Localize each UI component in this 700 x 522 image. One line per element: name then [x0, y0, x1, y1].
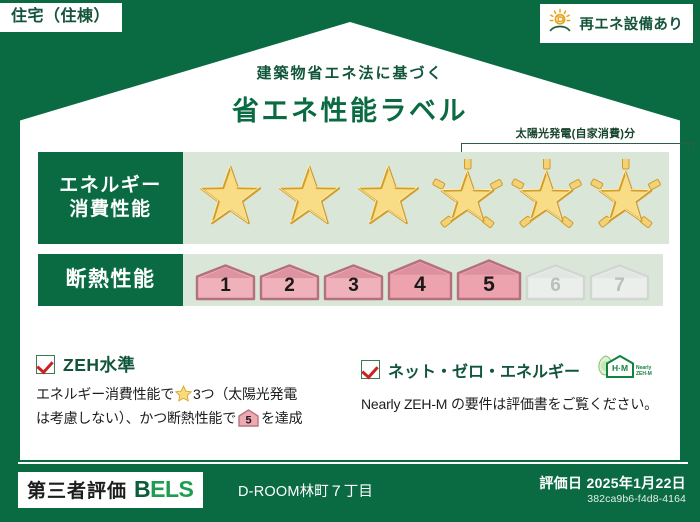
- evaluation-date-value: 2025年1月22日: [586, 475, 686, 491]
- insulation-label-text: 断熱性能: [66, 267, 156, 294]
- renewable-equipment-badge: 再エネ設備あり: [540, 4, 693, 43]
- insulation-level-track: 1234567: [183, 254, 663, 306]
- star-rating: [191, 159, 665, 237]
- zeh-body-part1: エネルギー消費性能で: [36, 386, 174, 402]
- zeh-body-part4: を達成: [261, 410, 302, 426]
- renewable-badge-label: 再エネ設備あり: [579, 13, 683, 34]
- insulation-level-2: 2: [259, 264, 320, 301]
- svg-text:ZEH-M: ZEH-M: [636, 371, 652, 377]
- energy-label-line2: 消費性能: [69, 198, 151, 222]
- insulation-level-number: 3: [323, 275, 384, 297]
- bels-logo-text: BELS: [134, 476, 193, 503]
- star-4: [428, 159, 507, 237]
- zeh-standard-header: ZEH水準: [36, 352, 341, 377]
- zeh-standard-title: ZEH水準: [63, 352, 136, 377]
- insulation-level-number: 4: [387, 273, 453, 297]
- building-type-tag: 住宅（住棟）: [0, 3, 122, 32]
- inline-star-icon: [175, 385, 192, 408]
- insulation-level-3: 3: [323, 264, 384, 301]
- insulation-level-number: 5: [456, 273, 522, 297]
- zeh-body-part3: は考慮しない）、かつ断熱性能で: [36, 410, 236, 426]
- star-2: [270, 159, 349, 237]
- insulation-level-list: 1234567: [195, 259, 650, 301]
- bels-logo-b: B: [134, 476, 150, 502]
- energy-star-track: [183, 152, 669, 244]
- footer-divider: [18, 462, 688, 464]
- evaluation-date-label: 評価日: [539, 475, 582, 491]
- performance-rows: エネルギー 消費性能 太陽光発電(自家消費)分 断熱性能 1234567: [38, 152, 663, 316]
- evaluation-date: 評価日 2025年1月22日: [539, 473, 686, 493]
- evaluation-id: 382ca9b6-f4d8-4164: [587, 493, 686, 505]
- insulation-performance-row: 断熱性能 1234567: [38, 254, 663, 306]
- title-subtitle: 建築物省エネ法に基づく: [0, 62, 700, 83]
- insulation-level-number: 7: [589, 275, 650, 297]
- bels-jp-label: 第三者評価: [27, 476, 127, 503]
- zeh-standard-checkbox-icon: [36, 355, 55, 374]
- nearly-zeh-m-logo-icon: H·M Nearly ZEH-M: [592, 352, 652, 387]
- insulation-level-1: 1: [195, 264, 256, 301]
- star-6: [586, 159, 665, 237]
- net-zero-header: ネット・ゼロ・エネルギー H·M Nearly ZEH-M: [361, 352, 666, 387]
- insulation-level-number: 6: [525, 275, 586, 297]
- label-footer: 第三者評価 BELS D-ROOM林町７丁目 評価日 2025年1月22日 38…: [0, 460, 700, 522]
- svg-text:5: 5: [246, 415, 252, 427]
- sun-renewable-icon: [547, 8, 573, 39]
- star-3: [349, 159, 428, 237]
- insulation-level-6: 6: [525, 264, 586, 301]
- bels-logo-els: ELS: [150, 476, 193, 502]
- net-zero-title: ネット・ゼロ・エネルギー: [388, 358, 580, 382]
- bels-certification-badge: 第三者評価 BELS: [18, 472, 203, 508]
- star-1: [191, 159, 270, 237]
- title-block: 建築物省エネ法に基づく 省エネ性能ラベル: [0, 62, 700, 128]
- insulation-level-number: 1: [195, 275, 256, 297]
- energy-performance-label: 住宅（住棟） 再エネ設備あり 建築物省エネ法に基づく: [0, 0, 700, 522]
- inline-house-badge: 5: [238, 409, 259, 433]
- net-zero-body: Nearly ZEH-M の要件は評価書をご覧ください。: [361, 394, 666, 415]
- insulation-level-5: 5: [456, 259, 522, 301]
- zeh-standard-note: ZEH水準 エネルギー消費性能で 3つ（太陽光発電は考慮しない）、かつ断熱性能で…: [36, 352, 341, 434]
- notes-section: ZEH水準 エネルギー消費性能で 3つ（太陽光発電は考慮しない）、かつ断熱性能で…: [36, 352, 666, 434]
- energy-performance-label: エネルギー 消費性能: [38, 152, 183, 244]
- project-name: D-ROOM林町７丁目: [238, 480, 373, 501]
- insulation-level-4: 4: [387, 259, 453, 301]
- svg-text:H·M: H·M: [612, 363, 628, 373]
- zeh-body-part2: 3つ（太陽光発電: [193, 386, 297, 402]
- zeh-standard-body: エネルギー消費性能で 3つ（太陽光発電は考慮しない）、かつ断熱性能で 5 を達成: [36, 384, 341, 434]
- page-title: 省エネ性能ラベル: [0, 89, 700, 128]
- net-zero-checkbox-icon: [361, 360, 380, 379]
- energy-performance-row: エネルギー 消費性能 太陽光発電(自家消費)分: [38, 152, 663, 244]
- insulation-level-7: 7: [589, 264, 650, 301]
- star-5: [507, 159, 586, 237]
- insulation-performance-label: 断熱性能: [38, 254, 183, 306]
- insulation-level-number: 2: [259, 275, 320, 297]
- net-zero-energy-note: ネット・ゼロ・エネルギー H·M Nearly ZEH-M Nearly ZEH…: [361, 352, 666, 434]
- energy-label-line1: エネルギー: [59, 174, 162, 198]
